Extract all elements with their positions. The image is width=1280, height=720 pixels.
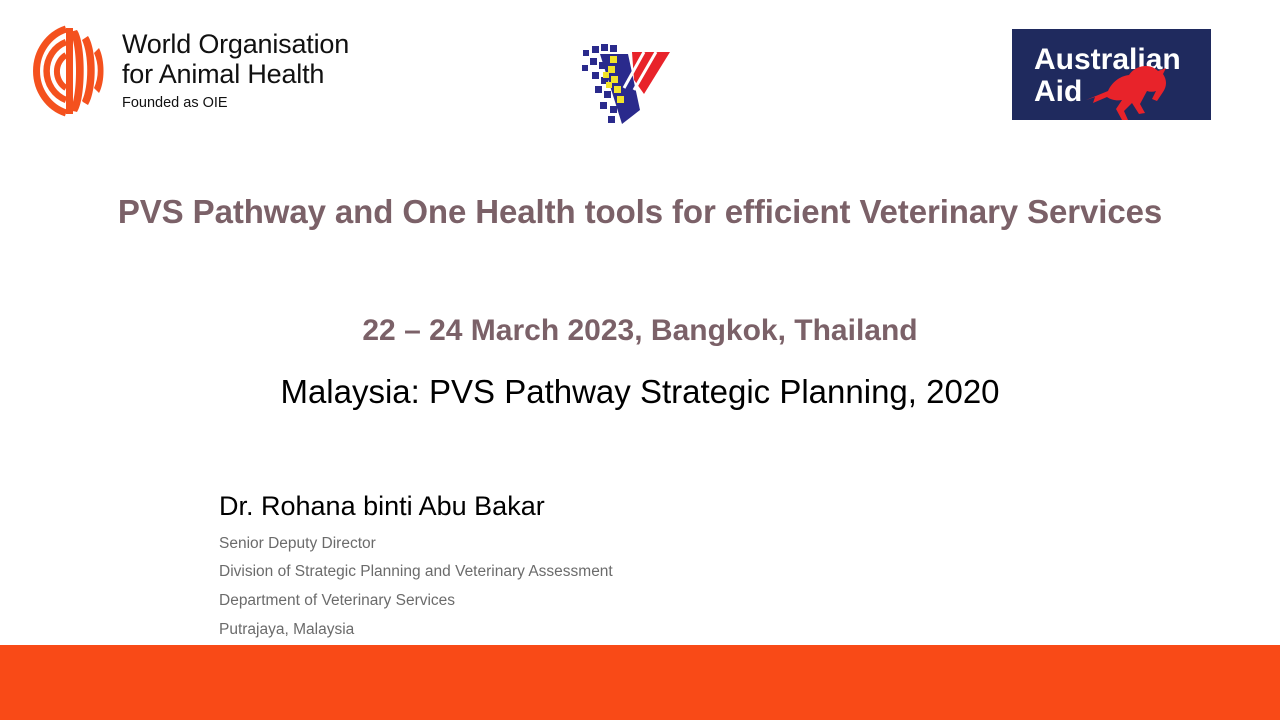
presenter-affiliation-2: Division of Strategic Planning and Veter… <box>219 558 613 587</box>
page-subtitle: Malaysia: PVS Pathway Strategic Planning… <box>0 373 1280 411</box>
woah-wordmark-tagline: Founded as OIE <box>122 96 349 111</box>
woah-globe-icon <box>24 25 108 117</box>
woah-logo: World Organisation for Animal Health Fou… <box>24 25 349 117</box>
logo-row: World Organisation for Animal Health Fou… <box>0 0 1280 140</box>
footer-band <box>0 645 1280 720</box>
event-date-location: 22 – 24 March 2023, Bangkok, Thailand <box>0 314 1280 348</box>
woah-wordmark: World Organisation for Animal Health Fou… <box>122 31 349 111</box>
dvs-malaysia-logo <box>570 32 690 127</box>
woah-wordmark-line2: for Animal Health <box>122 61 349 88</box>
presenter-affiliation-3: Department of Veterinary Services <box>219 587 613 616</box>
woah-wordmark-line1: World Organisation <box>122 31 349 58</box>
presenter-block: Dr. Rohana binti Abu Bakar Senior Deputy… <box>219 490 613 644</box>
presenter-affiliation-1: Senior Deputy Director <box>219 530 613 559</box>
australian-aid-line2: Aid <box>1034 75 1082 108</box>
slide-canvas: World Organisation for Animal Health Fou… <box>0 0 1280 720</box>
presenter-affiliation-4: Putrajaya, Malaysia <box>219 616 613 645</box>
page-title: PVS Pathway and One Health tools for eff… <box>0 193 1280 231</box>
australian-aid-logo: Australian Aid <box>1012 29 1211 120</box>
presenter-name: Dr. Rohana binti Abu Bakar <box>219 490 613 524</box>
